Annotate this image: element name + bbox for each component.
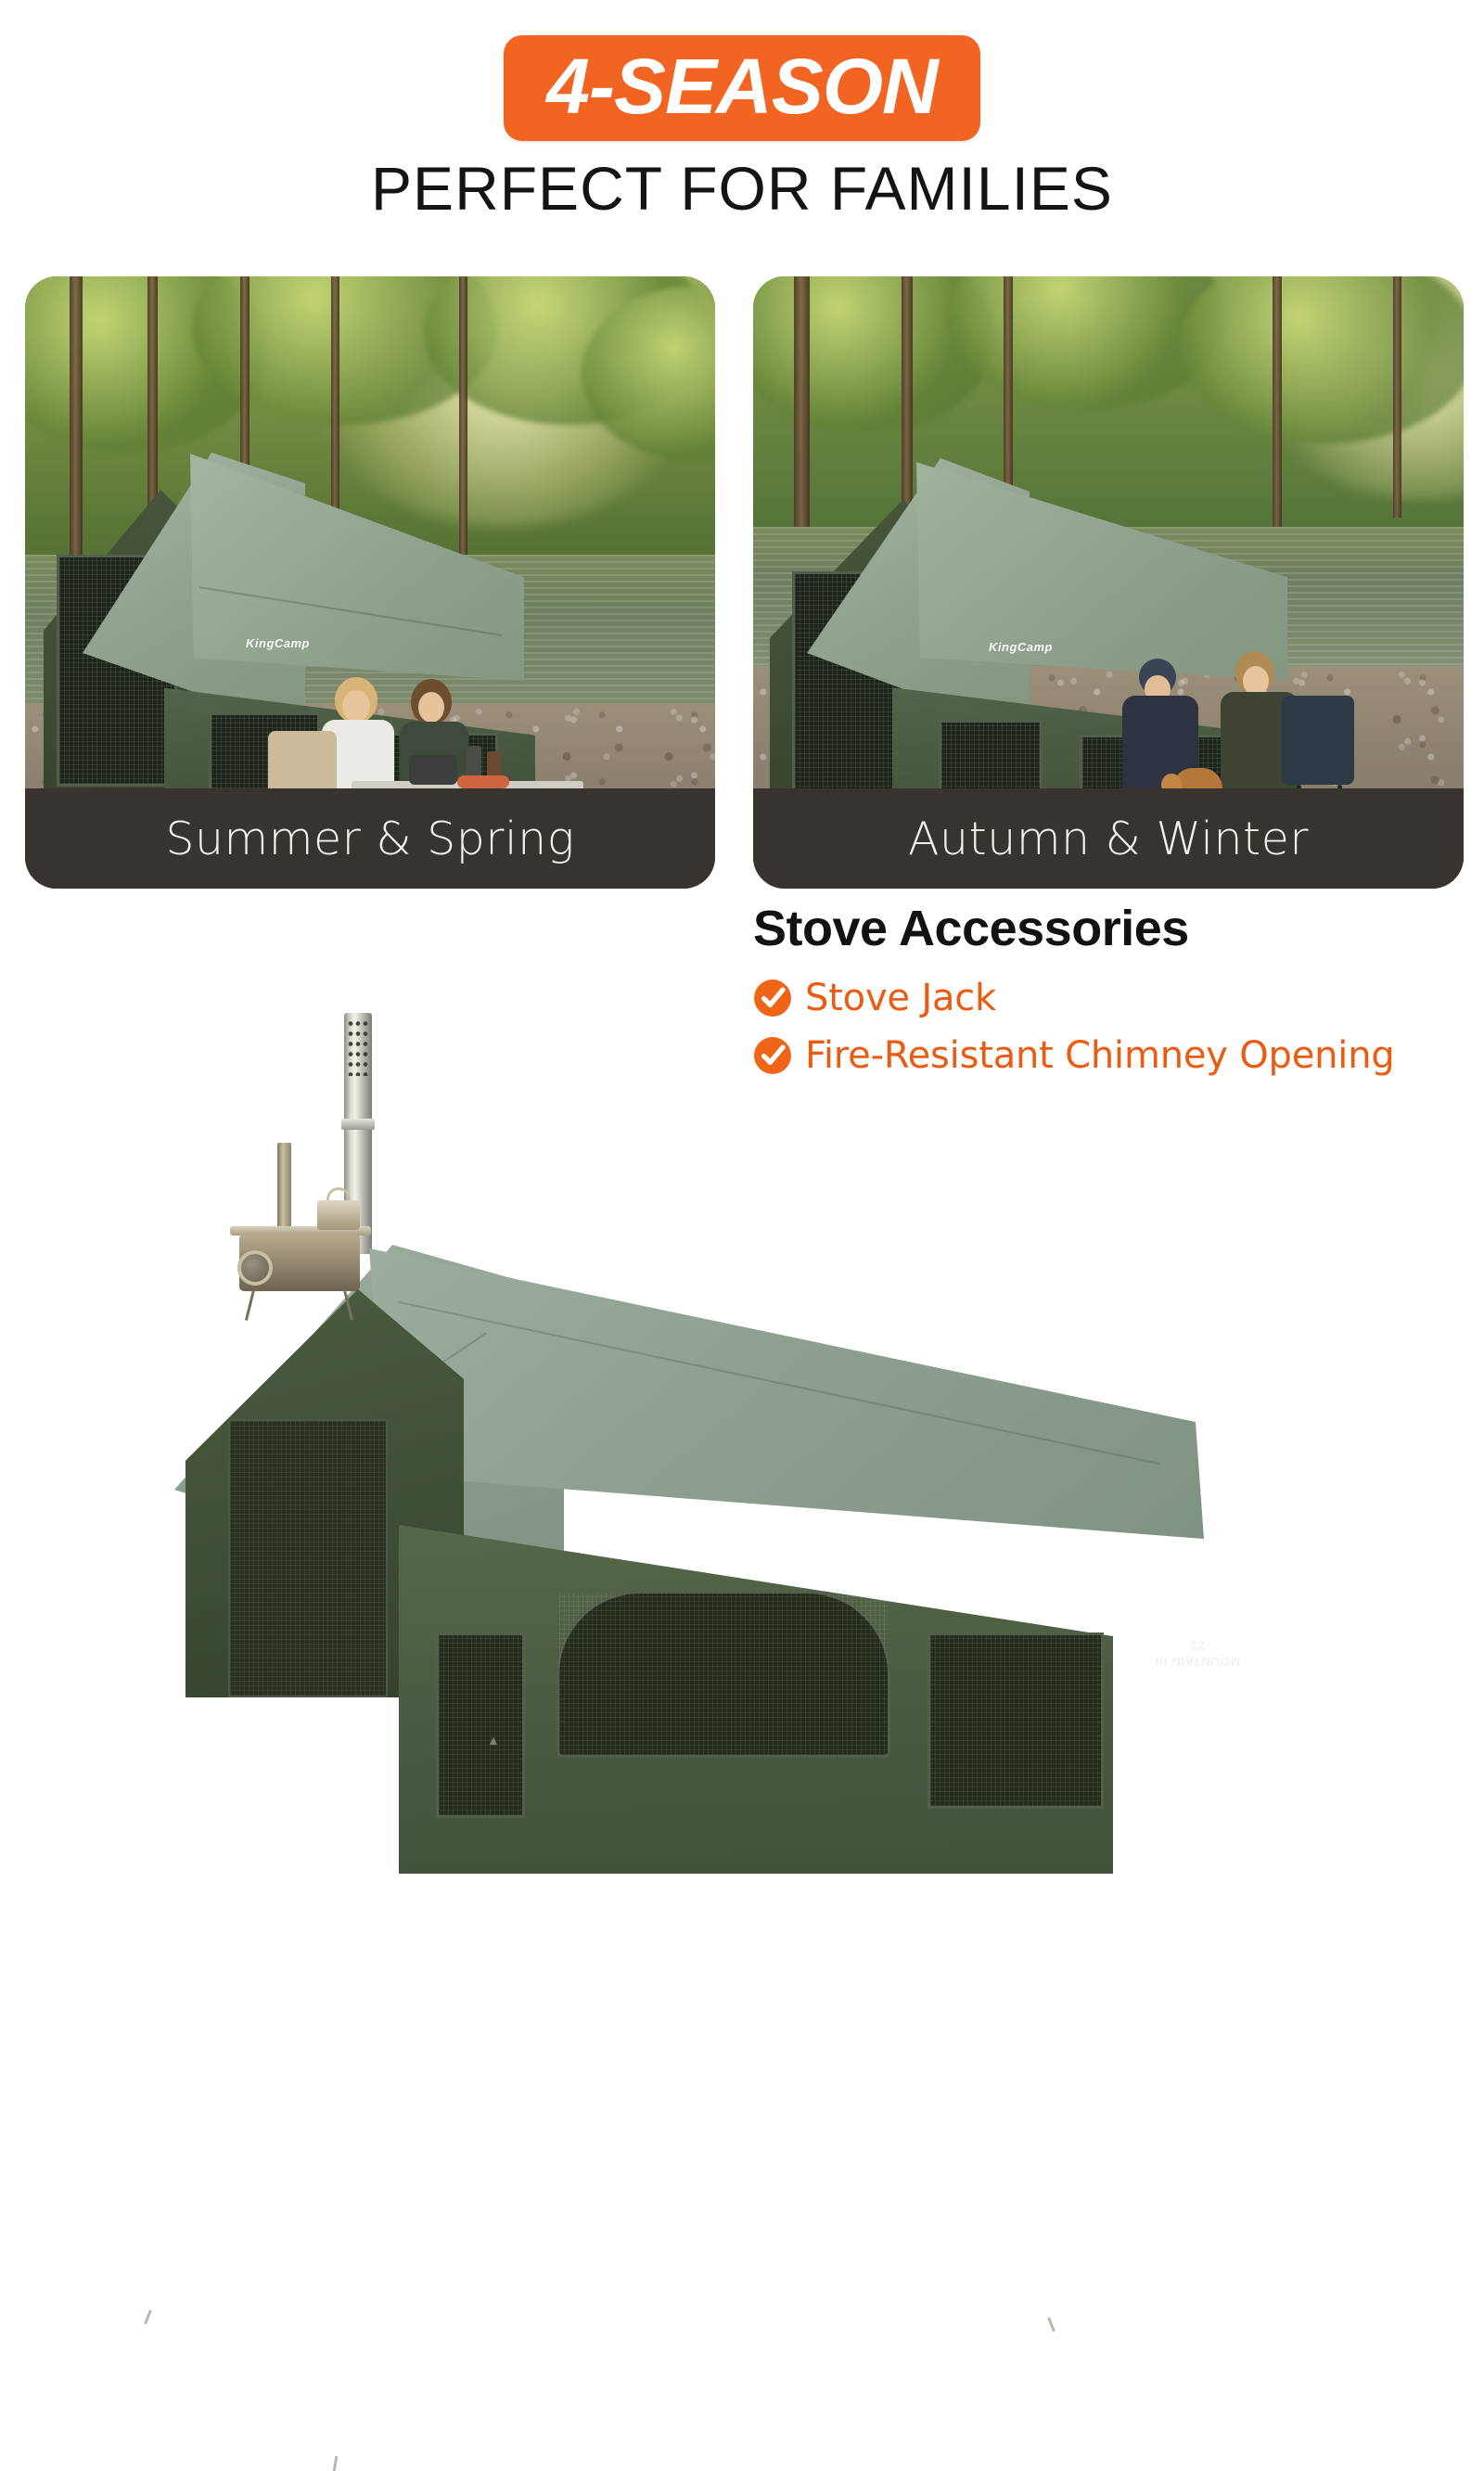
hero-window-mesh (927, 1632, 1104, 1809)
tree-trunk (1273, 276, 1282, 527)
season-badge: 4-SEASON (504, 35, 979, 141)
tree-trunk (459, 276, 467, 555)
tree-trunk (1393, 276, 1401, 518)
chimney-clamp (341, 1119, 375, 1130)
brand-logo-fly: KingCamp (246, 636, 310, 650)
season-card-autumn-winter[interactable]: KingCamp MOUNTAIN III23 (753, 276, 1464, 889)
season-caption-label: Summer & Spring (165, 813, 574, 865)
hero-brand-logo: KingCamp (835, 1106, 927, 1126)
season-caption-label: Autumn & Winter (908, 813, 1309, 865)
brand-logo-fly: KingCamp (989, 640, 1053, 654)
food-plate (457, 775, 509, 788)
kettle (317, 1200, 360, 1230)
tent-stake (144, 2310, 152, 2324)
season-card-summer-spring[interactable]: KingCamp MOUNTAIN III23 (25, 276, 715, 889)
tent-stake (333, 2456, 339, 2471)
page-header: 4-SEASON PERFECT FOR FAMILIES (0, 0, 1484, 219)
season-gallery: KingCamp MOUNTAIN III23 (0, 276, 1484, 889)
hero-model-line2: 23 (1190, 1639, 1205, 1653)
hero-window-mesh (436, 1632, 525, 1818)
cook-pot (409, 755, 457, 785)
person-face (342, 690, 370, 722)
hero-small-logo-mark: ▲ (487, 1733, 500, 1748)
stove-flue-pipe (277, 1143, 291, 1232)
tent-stake (1047, 2317, 1055, 2332)
chimney-vent-holes (347, 1018, 369, 1076)
camp-chair (1282, 696, 1354, 785)
person-face (418, 692, 444, 723)
tree-trunk (331, 276, 339, 536)
hero-model-label: MOUNTAIN III 23 (1155, 1637, 1240, 1669)
season-caption-bar: Autumn & Winter (753, 788, 1464, 889)
hero-product-image (0, 983, 1484, 1855)
accessories-title: Stove Accessories (753, 902, 1467, 956)
hero-model-line1: MOUNTAIN III (1155, 1655, 1240, 1669)
season-badge-label: 4-SEASON (546, 48, 937, 124)
hero-window-mesh (556, 1591, 890, 1758)
season-caption-bar: Summer & Spring (25, 788, 715, 889)
stove-air-vent (237, 1250, 273, 1286)
page-subtitle: PERFECT FOR FAMILIES (0, 158, 1484, 219)
hero-door-mesh (228, 1419, 388, 1697)
